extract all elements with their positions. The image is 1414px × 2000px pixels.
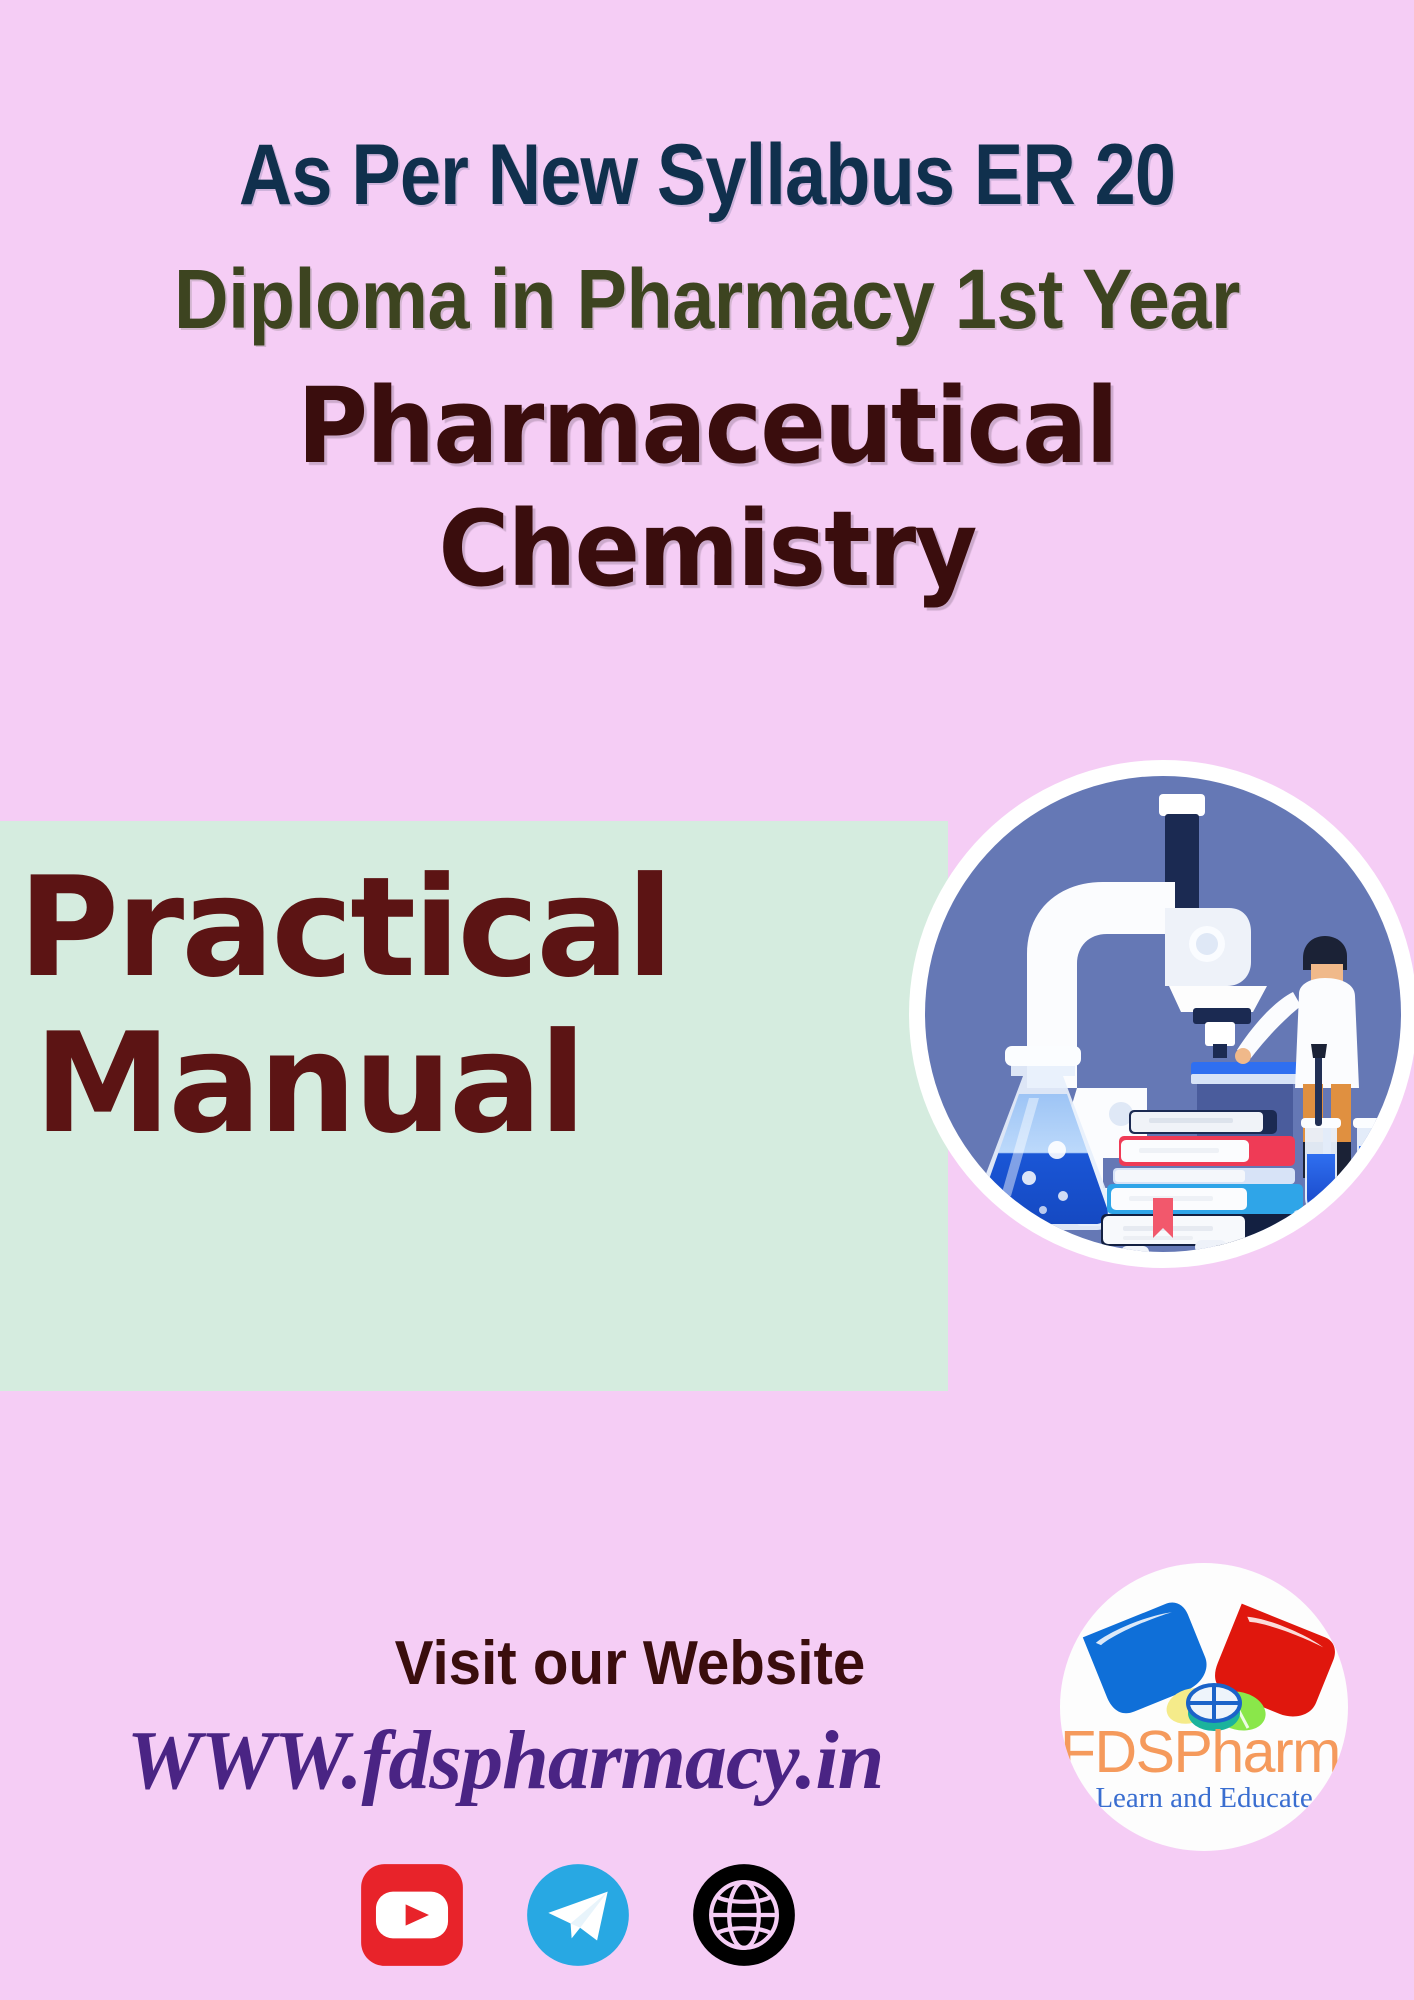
fdspharmacy-logo: FDSPharmacy Learn and Educate (1060, 1563, 1348, 1851)
visit-website-label: Visit our Website (329, 1628, 931, 1699)
manual-title-line-1: Practical (18, 847, 671, 1008)
laboratory-science-illustration (907, 758, 1414, 1270)
subject-title-line-1: Pharmaceutical (297, 365, 1117, 487)
subject-title-line-2: Chemistry (49, 488, 1364, 611)
social-links-row (0, 1862, 1414, 1968)
youtube-icon[interactable] (359, 1862, 465, 1968)
book-cover-page: As Per New Syllabus ER 20 Diploma in Pha… (0, 0, 1414, 2000)
website-globe-icon[interactable] (691, 1862, 797, 1968)
syllabus-heading: As Per New Syllabus ER 20 (99, 130, 1315, 220)
manual-title: Practical Manual (18, 850, 718, 1162)
website-url[interactable]: WWW.fdspharmacy.in (60, 1712, 950, 1809)
logo-brand-name: FDSPharmacy (1060, 1723, 1348, 1782)
logo-tagline: Learn and Educate (1060, 1782, 1348, 1815)
course-heading: Diploma in Pharmacy 1st Year (71, 255, 1344, 343)
subject-title: Pharmaceutical Chemistry (49, 365, 1364, 610)
manual-title-line-2: Manual (18, 1006, 718, 1162)
telegram-icon[interactable] (525, 1862, 631, 1968)
